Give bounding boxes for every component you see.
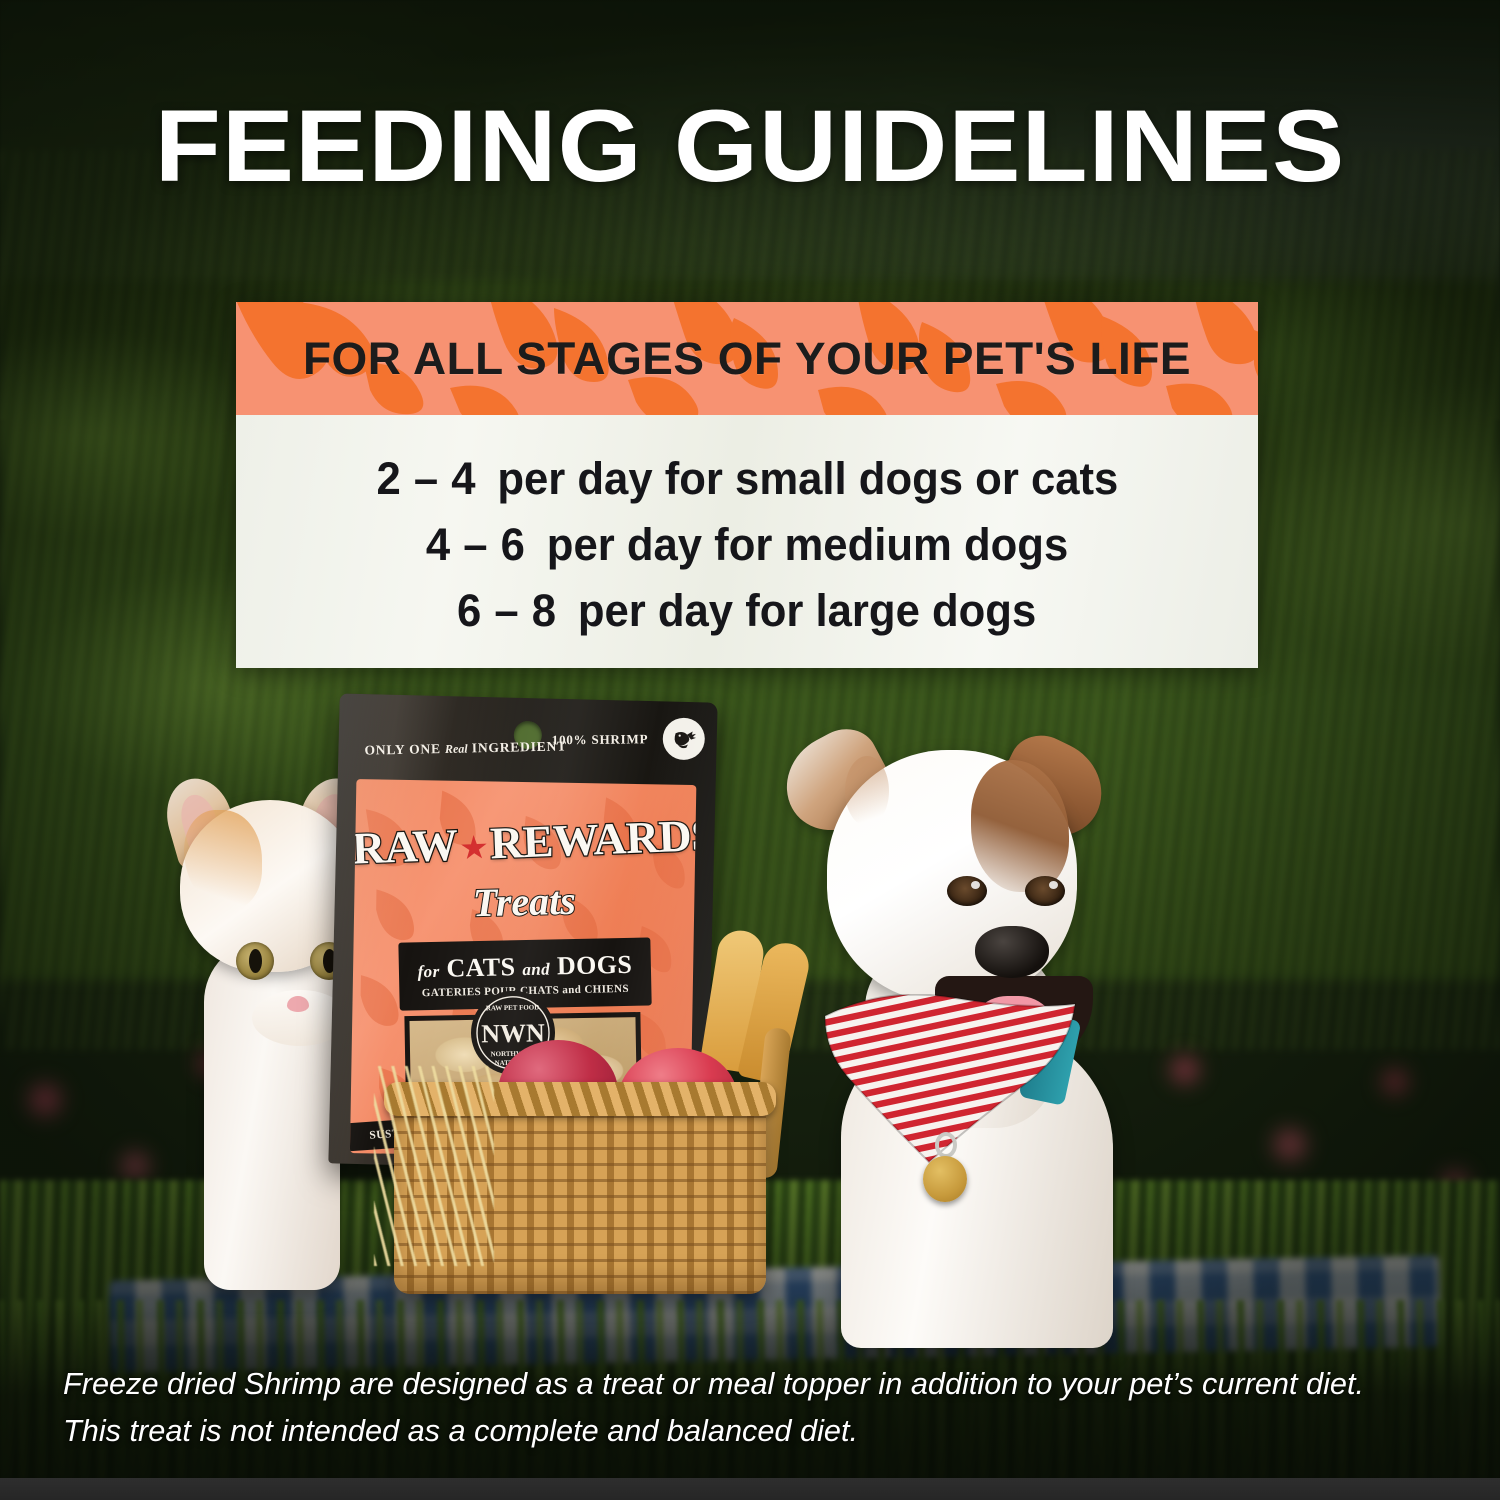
package-audience-line: for CATS and DOGS: [417, 949, 632, 983]
feeding-range-large: 6 – 8: [457, 585, 557, 637]
audience-dogs: DOGS: [557, 949, 633, 980]
feeding-line-large: 6 – 8 per day for large dogs: [457, 585, 1036, 637]
dog-photo: [745, 698, 1185, 1338]
feeding-guidelines-graphic: FEEDING GUIDELINES: [0, 0, 1500, 1500]
feeding-text-small: per day for small dogs or cats: [497, 453, 1118, 505]
dog-head: [827, 750, 1077, 1002]
basket-straw: [374, 1066, 494, 1266]
cat-nose: [287, 996, 309, 1012]
svg-text:RAW PET FOOD: RAW PET FOOD: [486, 1003, 540, 1012]
dog-eye-right: [1025, 876, 1065, 906]
disclaimer-text: Freeze dried Shrimp are designed as a tr…: [63, 1360, 1449, 1454]
package-tagline-prefix: ONLY ONE: [364, 741, 441, 758]
audience-cats: CATS: [446, 952, 516, 982]
feeding-line-medium: 4 – 6 per day for medium dogs: [426, 519, 1068, 571]
package-tagline-script: Real: [445, 742, 468, 756]
shrimp-icon: [663, 718, 705, 760]
feeding-text-large: per day for large dogs: [578, 585, 1036, 637]
panel-header-title: FOR ALL STAGES OF YOUR PET'S LIFE: [236, 302, 1258, 415]
feeding-line-small: 2 – 4 per day for small dogs or cats: [376, 453, 1118, 505]
dog-tag-ring: [935, 1132, 957, 1158]
cat-eye-left: [236, 942, 274, 980]
disclaimer-line-2: This treat is not intended as a complete…: [63, 1407, 1449, 1454]
feeding-lines-list: 2 – 4 per day for small dogs or cats 4 –…: [236, 415, 1258, 668]
package-shrimp-percent: 100% SHRIMP: [552, 731, 649, 748]
audience-for: for: [417, 961, 439, 980]
brand-word-rewards: REWARDS: [489, 810, 696, 869]
panel-header-bar: FOR ALL STAGES OF YOUR PET'S LIFE: [236, 302, 1258, 415]
brand-word-raw: RAW: [351, 820, 458, 874]
feeding-guidelines-panel: FOR ALL STAGES OF YOUR PET'S LIFE 2 – 4 …: [236, 302, 1258, 668]
feeding-range-medium: 4 – 6: [426, 519, 526, 571]
audience-and: and: [522, 959, 550, 979]
disclaimer-line-1: Freeze dried Shrimp are designed as a tr…: [63, 1360, 1449, 1407]
package-tagline-left: ONLY ONE Real INGREDIENT: [364, 738, 567, 758]
star-icon: [460, 835, 487, 862]
picnic-basket: [380, 1038, 780, 1300]
page-title: FEEDING GUIDELINES: [0, 94, 1500, 198]
feeding-range-small: 2 – 4: [376, 453, 476, 505]
feeding-text-medium: per day for medium dogs: [547, 519, 1068, 571]
brand-subtitle: Treats: [354, 874, 695, 929]
dog-face-patch-left: [845, 756, 889, 826]
product-photo-scene: ONLY ONE Real INGREDIENT 100% SHRIMP: [0, 640, 1500, 1360]
bottom-border-band: [0, 1478, 1500, 1500]
dog-id-tag: [923, 1156, 967, 1202]
dog-nose: [975, 926, 1049, 978]
dog-eye-left: [947, 876, 987, 906]
